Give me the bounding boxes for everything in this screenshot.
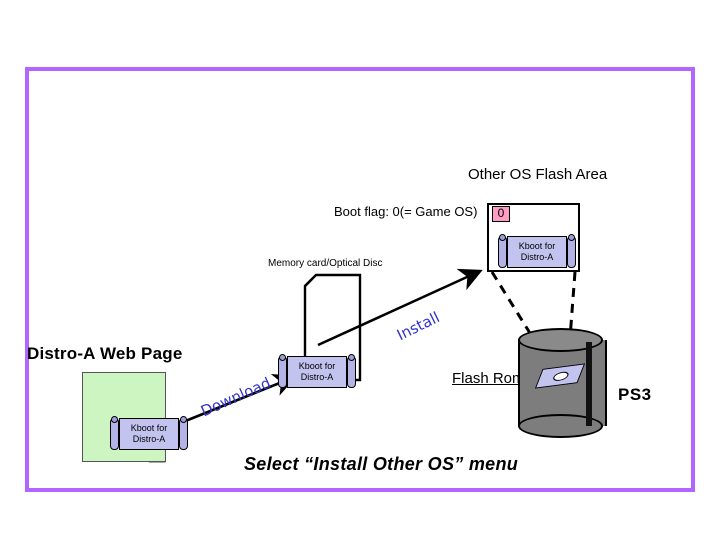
- boot-flag-text: Boot flag: 0(= Game OS): [334, 205, 477, 218]
- scroll-line2: Distro-A: [521, 252, 554, 262]
- flash-rom-cylinder: [518, 328, 603, 438]
- scroll-label: Kboot for Distro-A: [131, 423, 168, 445]
- memory-card-label: Memory card/Optical Disc: [268, 259, 382, 269]
- scroll-body: Kboot for Distro-A: [287, 356, 347, 388]
- flash-area-title: Other OS Flash Area: [468, 167, 607, 182]
- scroll-web-page: Kboot for Distro-A: [110, 414, 188, 450]
- scroll-knob-right: [348, 354, 355, 361]
- scroll-memory-card: Kboot for Distro-A: [278, 352, 356, 388]
- bottom-message: Select “Install Other OS” menu: [244, 455, 518, 473]
- scroll-label: Kboot for Distro-A: [299, 361, 336, 383]
- chip-hole: [552, 371, 570, 382]
- scroll-flash-area: Kboot for Distro-A: [498, 232, 576, 268]
- diagram-canvas: Other OS Flash Area Boot flag: 0(= Game …: [0, 0, 720, 540]
- boot-flag-value-box: 0: [492, 206, 510, 222]
- scroll-body: Kboot for Distro-A: [507, 236, 567, 268]
- scroll-knob-left: [111, 416, 118, 423]
- scroll-line2: Distro-A: [301, 372, 334, 382]
- scroll-line1: Kboot for: [299, 361, 336, 371]
- scroll-line1: Kboot for: [131, 423, 168, 433]
- scroll-knob-left: [279, 354, 286, 361]
- scroll-knob-right: [568, 234, 575, 241]
- scroll-label: Kboot for Distro-A: [519, 241, 556, 263]
- ps3-label: PS3: [618, 386, 652, 403]
- scroll-line2: Distro-A: [133, 434, 166, 444]
- cylinder-stripe: [586, 342, 592, 426]
- scroll-knob-right: [180, 416, 187, 423]
- web-page-title: Distro-A Web Page: [27, 345, 182, 362]
- scroll-body: Kboot for Distro-A: [119, 418, 179, 450]
- flash-rom-label: Flash Rom: [452, 371, 525, 386]
- scroll-knob-left: [499, 234, 506, 241]
- scroll-line1: Kboot for: [519, 241, 556, 251]
